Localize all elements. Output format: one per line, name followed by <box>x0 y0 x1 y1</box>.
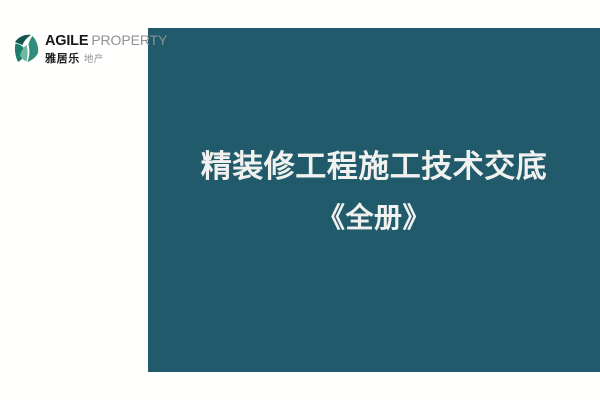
logo-latin-line: AGILE PROPERTY <box>45 33 167 49</box>
hero-panel: 精装修工程施工技术交底 《全册》 <box>148 28 600 372</box>
brand-logo: AGILE PROPERTY 雅居乐 地产 <box>14 33 167 64</box>
page-title: 精装修工程施工技术交底 <box>154 148 594 187</box>
logo-cjk-secondary-text: 地产 <box>84 55 104 65</box>
logo-property-text: PROPERTY <box>91 33 167 47</box>
logo-agile-text: AGILE <box>45 34 88 49</box>
logo-cjk-line: 雅居乐 地产 <box>45 53 167 65</box>
page-subtitle: 《全册》 <box>154 200 594 236</box>
slide-canvas: 精装修工程施工技术交底 《全册》 AGILE PROPERTY <box>0 0 600 400</box>
hero-text-block: 精装修工程施工技术交底 《全册》 <box>148 148 600 236</box>
logo-wordmark: AGILE PROPERTY 雅居乐 地产 <box>45 33 167 64</box>
logo-cjk-primary-text: 雅居乐 <box>45 53 80 64</box>
trefoil-leaf-icon <box>14 34 41 63</box>
